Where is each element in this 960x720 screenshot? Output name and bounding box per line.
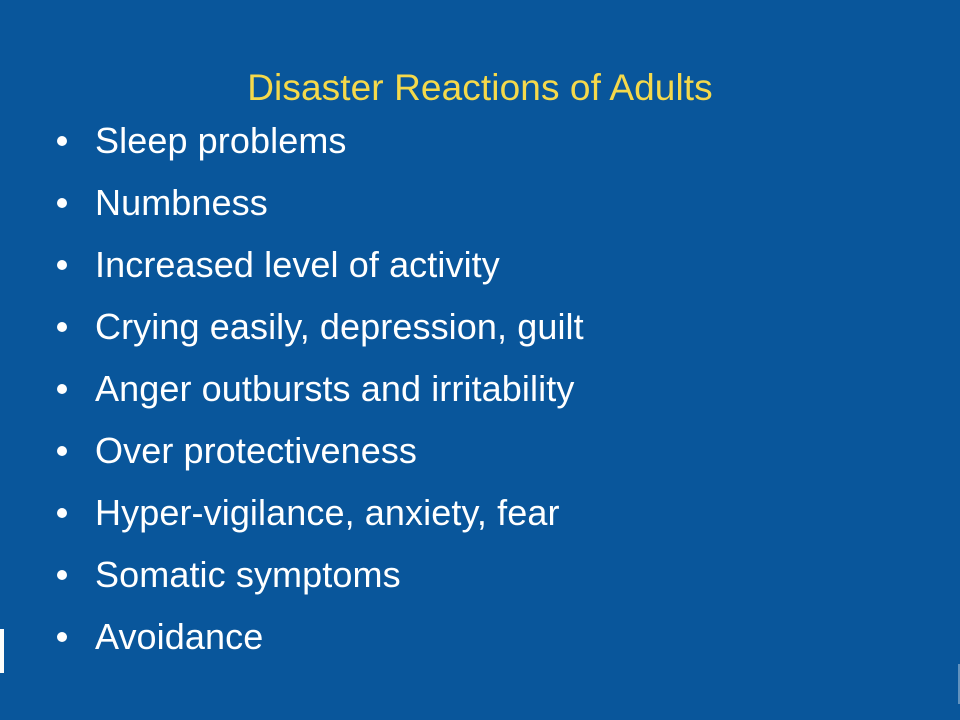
bullet-list: Sleep problems Numbness Increased level …: [48, 110, 928, 668]
bullet-dot-icon: [57, 446, 67, 456]
list-item: Crying easily, depression, guilt: [48, 296, 928, 358]
list-item-label: Hyper-vigilance, anxiety, fear: [95, 493, 560, 533]
list-item: Over protectiveness: [48, 420, 928, 482]
bullet-dot-icon: [57, 384, 67, 394]
list-item-label: Numbness: [95, 183, 268, 223]
list-item-label: Somatic symptoms: [95, 555, 401, 595]
list-item: Increased level of activity: [48, 234, 928, 296]
list-item: Hyper-vigilance, anxiety, fear: [48, 482, 928, 544]
left-edge-artifact: [0, 629, 4, 673]
list-item-label: Anger outbursts and irritability: [95, 369, 574, 409]
list-item-label: Avoidance: [95, 617, 263, 657]
list-item: Avoidance: [48, 606, 928, 668]
list-item: Anger outbursts and irritability: [48, 358, 928, 420]
presentation-slide: Disaster Reactions of Adults Sleep probl…: [0, 0, 960, 720]
list-item-label: Over protectiveness: [95, 431, 417, 471]
list-item-label: Increased level of activity: [95, 245, 500, 285]
bullet-dot-icon: [57, 260, 67, 270]
list-item-label: Crying easily, depression, guilt: [95, 307, 584, 347]
bullet-dot-icon: [57, 322, 67, 332]
list-item: Numbness: [48, 172, 928, 234]
bullet-dot-icon: [57, 632, 67, 642]
bullet-dot-icon: [57, 570, 67, 580]
list-item: Somatic symptoms: [48, 544, 928, 606]
bullet-dot-icon: [57, 136, 67, 146]
bullet-dot-icon: [57, 508, 67, 518]
bullet-dot-icon: [57, 198, 67, 208]
list-item-label: Sleep problems: [95, 121, 347, 161]
list-item: Sleep problems: [48, 110, 928, 172]
slide-title: Disaster Reactions of Adults: [0, 65, 960, 111]
